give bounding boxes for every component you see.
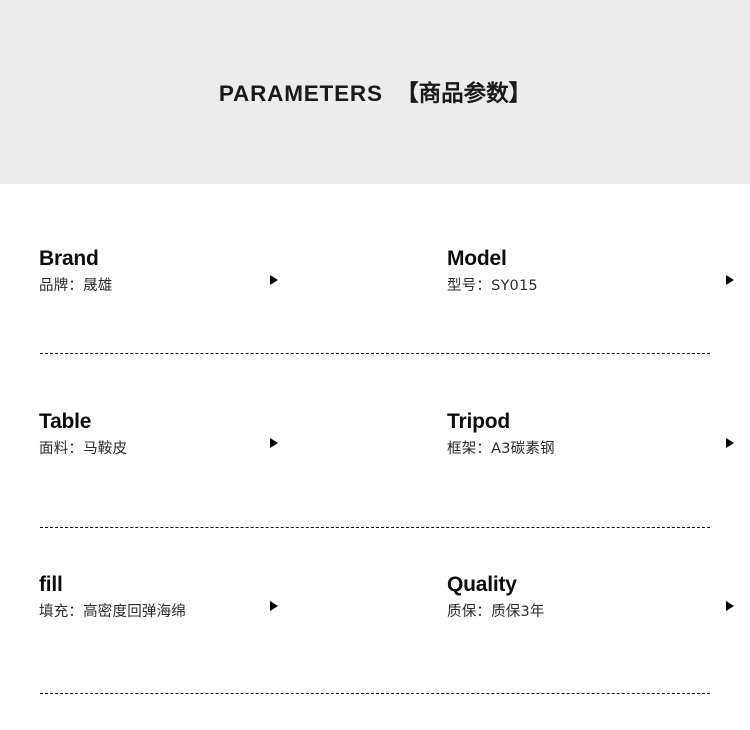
parameter-row: fill 填充：高密度回弹海绵 Quality 质保：质保3年	[0, 510, 750, 675]
row-divider-1	[40, 353, 710, 354]
row-divider-2	[40, 527, 710, 528]
triangle-right-icon	[270, 438, 278, 448]
parameter-label: Model	[447, 248, 727, 270]
triangle-right-icon	[270, 275, 278, 285]
triangle-right-icon	[726, 275, 734, 285]
parameter-label: Brand	[39, 248, 319, 270]
page-title-english: PARAMETERS	[219, 81, 383, 106]
parameters-grid: Brand 品牌：晟雄 Model 型号：SY015 Table 面料：马鞍皮 …	[0, 184, 750, 675]
parameter-label: fill	[39, 574, 319, 596]
triangle-right-icon	[726, 601, 734, 611]
parameter-label: Tripod	[447, 411, 727, 433]
parameter-row: Brand 品牌：晟雄 Model 型号：SY015	[0, 184, 750, 347]
parameter-cell-quality: Quality 质保：质保3年	[447, 574, 727, 621]
parameter-cell-fill: fill 填充：高密度回弹海绵	[39, 574, 319, 621]
parameter-cell-brand: Brand 品牌：晟雄	[39, 248, 319, 295]
product-parameters-page: PARAMETERS 【商品参数】 Brand 品牌：晟雄 Model 型号：S…	[0, 0, 750, 730]
header-band: PARAMETERS 【商品参数】	[0, 0, 750, 184]
triangle-right-icon	[726, 438, 734, 448]
row-divider-3	[40, 693, 710, 694]
triangle-right-icon	[270, 601, 278, 611]
parameter-cell-tripod: Tripod 框架：A3碳素钢	[447, 411, 727, 458]
parameter-value: 型号：SY015	[447, 278, 727, 295]
parameter-label: Table	[39, 411, 319, 433]
parameter-value: 框架：A3碳素钢	[447, 441, 727, 458]
parameter-cell-model: Model 型号：SY015	[447, 248, 727, 295]
page-title-chinese: 【商品参数】	[396, 81, 531, 106]
parameter-value: 质保：质保3年	[447, 604, 727, 621]
parameter-cell-table: Table 面料：马鞍皮	[39, 411, 319, 458]
page-title: PARAMETERS 【商品参数】	[0, 76, 750, 108]
parameter-label: Quality	[447, 574, 727, 596]
parameter-row: Table 面料：马鞍皮 Tripod 框架：A3碳素钢	[0, 347, 750, 510]
